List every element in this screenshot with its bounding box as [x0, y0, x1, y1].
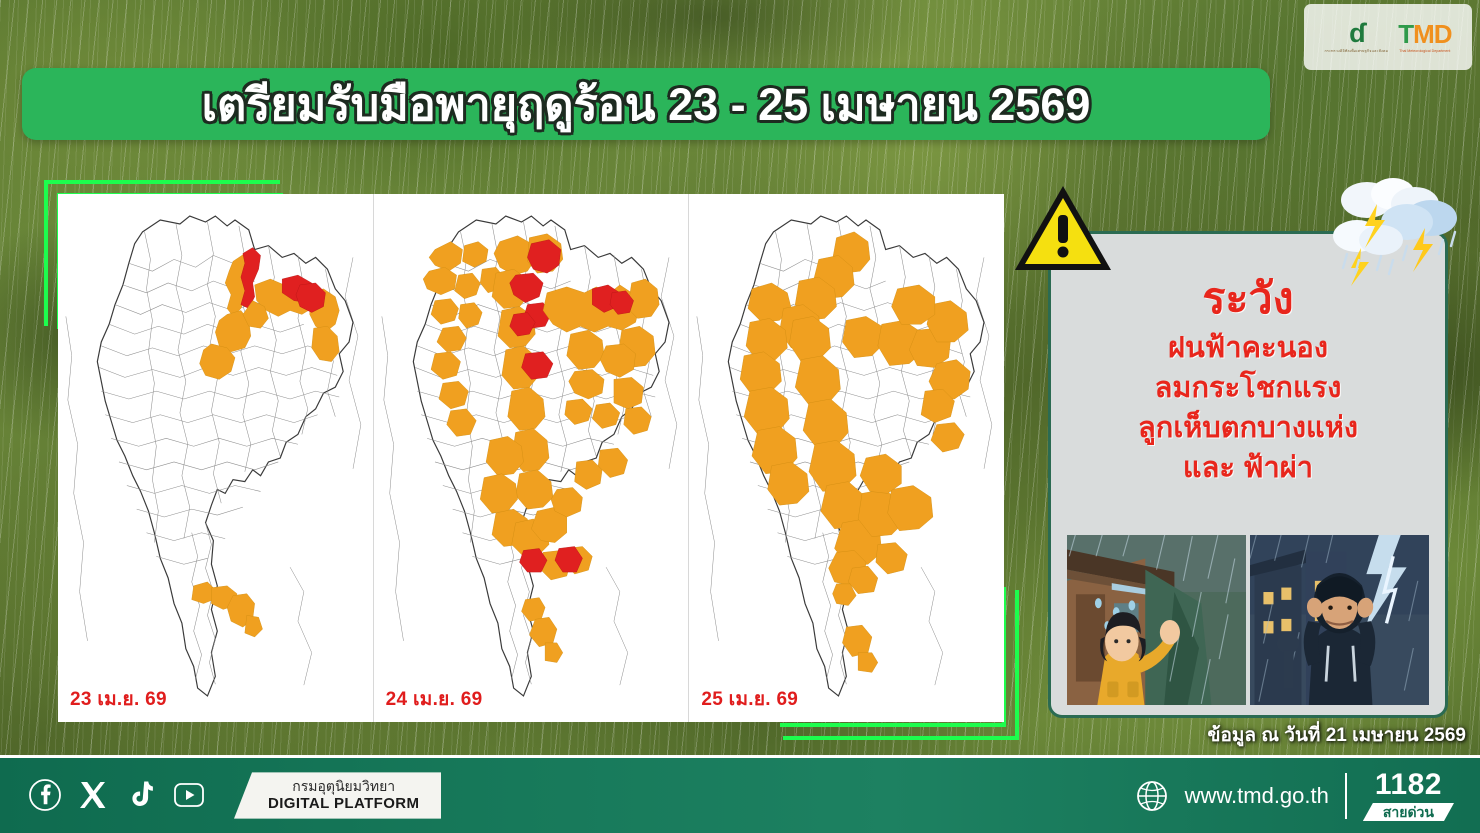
warning-photo-row	[1067, 535, 1429, 705]
hotline-group: 1182 สายด่วน	[1363, 770, 1454, 821]
tmd-logo-t: T	[1398, 19, 1413, 49]
ministry-logo-caption: กระทรวงดิจิทัลเพื่อเศรษฐกิจและสังคม	[1324, 50, 1388, 54]
warning-headline: ระวัง	[1051, 264, 1445, 332]
map-cell-day2[interactable]: 24 เม.ย. 69	[373, 194, 689, 722]
warning-card: ระวัง ฝนฟ้าคะนอง ลมกระโชกแรง ลูกเห็บตกบา…	[1048, 231, 1448, 718]
thailand-map-day1	[58, 194, 373, 722]
logo-plate: ɗ กระทรวงดิจิทัลเพื่อเศรษฐกิจและสังคม TM…	[1304, 4, 1472, 70]
tiktok-icon[interactable]	[124, 778, 158, 812]
youtube-icon[interactable]	[172, 778, 206, 812]
maps-section: 23 เม.ย. 69	[44, 180, 1019, 740]
tmd-logo-caption: Thai Meteorological Department	[1399, 50, 1450, 54]
footer-bar: กรมอุตุนิยมวิทยา DIGITAL PLATFORM www.tm…	[0, 755, 1480, 833]
thailand-map-day2	[374, 194, 689, 722]
woman-sheltering-from-rain-photo	[1067, 535, 1246, 705]
globe-icon	[1135, 779, 1169, 813]
footer-social-group: กรมอุตุนิยมวิทยา DIGITAL PLATFORM	[0, 772, 441, 818]
infographic-canvas: ɗ กระทรวงดิจิทัลเพื่อเศรษฐกิจและสังคม TM…	[0, 0, 1480, 833]
x-twitter-icon[interactable]	[76, 778, 110, 812]
map-date-label-day3: 25 เม.ย. 69	[701, 684, 798, 714]
person-covering-ears-lightning-photo	[1250, 535, 1429, 705]
warning-line-3: ลูกเห็บตกบางแห่ง	[1051, 408, 1445, 448]
page-title: เตรียมรับมือพายุฤดูร้อน 23 - 25 เมษายน 2…	[202, 68, 1091, 140]
thailand-map-day3	[689, 194, 1004, 722]
ministry-logo: ɗ กระทรวงดิจิทัลเพื่อเศรษฐกิจและสังคม	[1324, 20, 1388, 54]
data-timestamp: ข้อมูล ณ วันที่ 21 เมษายน 2569	[1207, 720, 1466, 750]
facebook-icon[interactable]	[28, 778, 62, 812]
brand-name-en: DIGITAL PLATFORM	[268, 795, 419, 813]
map-cell-day1[interactable]: 23 เม.ย. 69	[58, 194, 373, 722]
hotline-label: สายด่วน	[1363, 803, 1454, 821]
map-date-label-day1: 23 เม.ย. 69	[70, 684, 167, 714]
warning-line-2: ลมกระโชกแรง	[1051, 368, 1445, 408]
brand-name-th: กรมอุตุนิยมวิทยา	[292, 778, 395, 795]
tmd-logo-md: MD	[1413, 19, 1451, 49]
footer-divider	[1345, 773, 1347, 819]
warning-line-1: ฝนฟ้าคะนอง	[1051, 328, 1445, 368]
brand-chip: กรมอุตุนิยมวิทยา DIGITAL PLATFORM	[234, 772, 441, 818]
hotline-number: 1182	[1375, 770, 1442, 800]
map-panel: 23 เม.ย. 69	[58, 194, 1004, 722]
ministry-logo-mark: ɗ	[1349, 20, 1364, 47]
website-url[interactable]: www.tmd.go.th	[1185, 783, 1329, 809]
warning-line-4: และ ฟ้าผ่า	[1051, 448, 1445, 488]
tmd-logo: TMD Thai Meteorological Department	[1398, 21, 1451, 54]
footer-contact-group: www.tmd.go.th 1182 สายด่วน	[1135, 770, 1480, 821]
map-date-label-day2: 24 เม.ย. 69	[386, 684, 483, 714]
title-banner: เตรียมรับมือพายุฤดูร้อน 23 - 25 เมษายน 2…	[22, 68, 1270, 140]
map-cell-day3[interactable]: 25 เม.ย. 69	[688, 194, 1004, 722]
warning-lines: ฝนฟ้าคะนอง ลมกระโชกแรง ลูกเห็บตกบางแห่ง …	[1051, 328, 1445, 488]
warning-triangle-icon	[1011, 182, 1115, 274]
tmd-logo-mark: TMD	[1398, 21, 1451, 47]
